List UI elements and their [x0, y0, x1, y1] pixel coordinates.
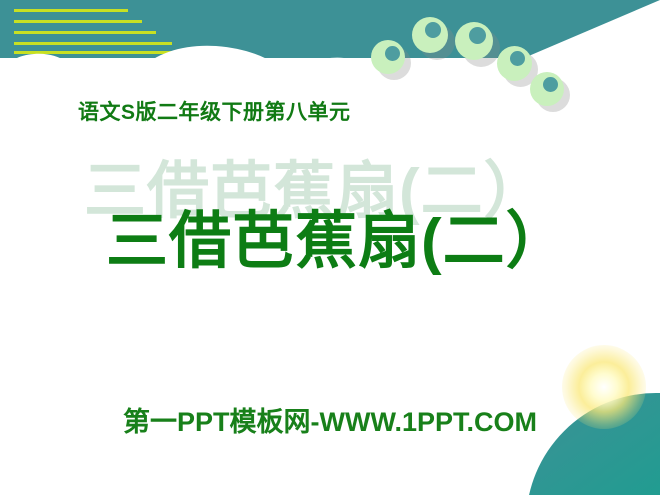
bubble-inner-circle [385, 46, 400, 61]
slide-canvas: 语文S版二年级下册第八单元 三借芭蕉扇(二） 三借芭蕉扇(二） 第一PPT模板网… [0, 0, 660, 495]
bubble-decoration [412, 17, 458, 63]
sun-glow-decoration [562, 345, 646, 429]
bubble-inner-circle [543, 77, 558, 92]
bubble-decoration [455, 22, 503, 70]
bubble-inner-circle [510, 51, 525, 66]
slide-title: 三借芭蕉扇(二） [106, 190, 569, 280]
slide-subtitle: 语文S版二年级下册第八单元 [78, 96, 351, 126]
bubble-inner-circle [469, 27, 486, 44]
slide-title-group: 三借芭蕉扇(二） 三借芭蕉扇(二） [0, 140, 660, 270]
bubble-decoration [371, 40, 415, 84]
bubble-decoration [530, 72, 574, 116]
bubble-inner-circle [425, 22, 441, 38]
